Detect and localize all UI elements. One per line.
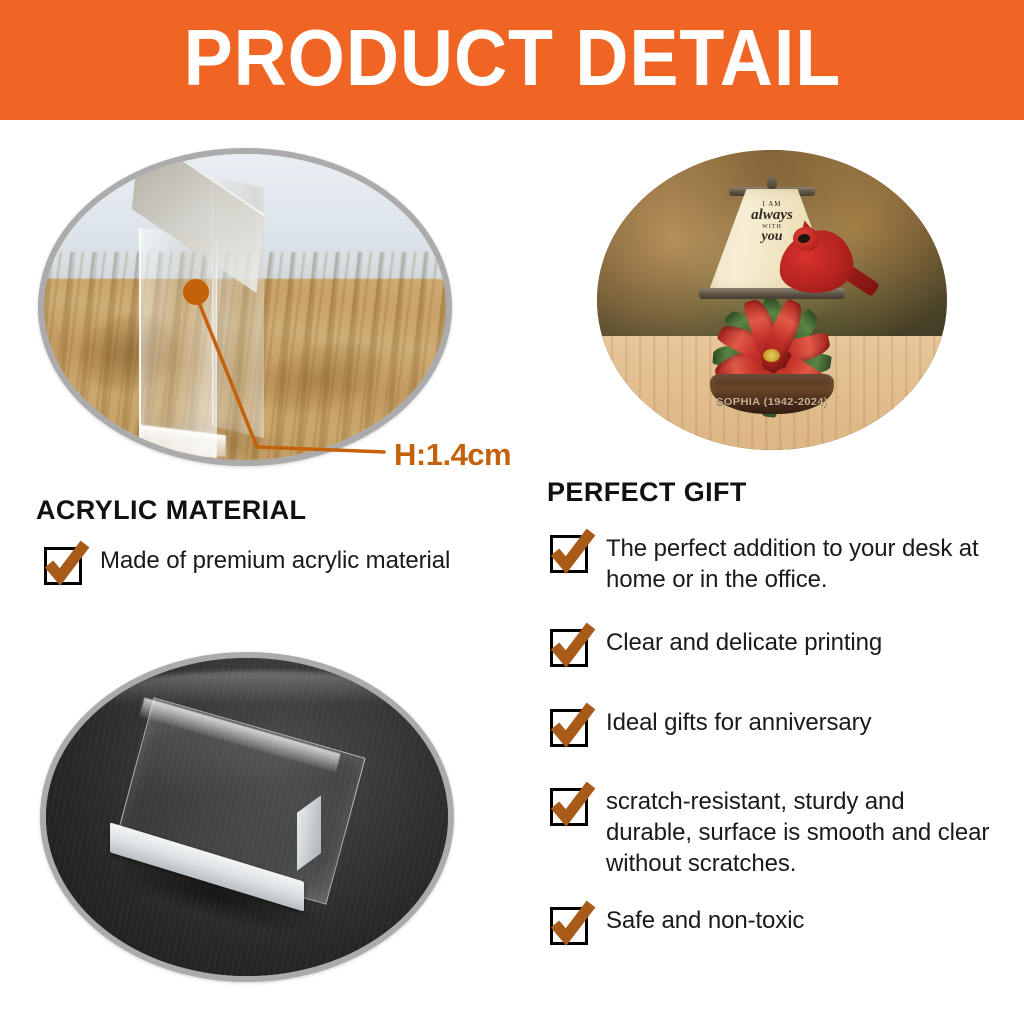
checklist-item-text: Safe and non-toxic (606, 905, 804, 936)
section-title-perfect-gift: PERFECT GIFT (547, 477, 747, 508)
checklist-item: Clear and delicate printing (550, 627, 980, 667)
checklist-item: Made of premium acrylic material (44, 545, 514, 585)
checkbox-checked-icon (550, 709, 588, 747)
shade-finial (767, 176, 777, 189)
checklist-item-text: Ideal gifts for anniversary (606, 707, 871, 738)
checkbox-checked-icon (550, 535, 588, 573)
callout-height-label: H:1.4cm (394, 437, 511, 473)
checklist-item-text: The perfect addition to your desk at hom… (606, 533, 980, 595)
checklist-item-text: scratch-resistant, sturdy and durable, s… (606, 786, 990, 879)
checklist-item: scratch-resistant, sturdy and durable, s… (550, 786, 990, 879)
checkbox-checked-icon (550, 907, 588, 945)
checkbox-checked-icon (550, 629, 588, 667)
header-banner: PRODUCT DETAIL (0, 0, 1024, 120)
photo-acrylic-slab (40, 652, 454, 982)
acrylic-block-standing (44, 154, 446, 460)
poinsettia-center (763, 349, 780, 362)
photo-cardinal-lamp: I AM always WITH you (597, 150, 947, 450)
photo-acrylic-edge (38, 148, 452, 466)
page-title: PRODUCT DETAIL (183, 18, 841, 102)
checklist-item-text: Clear and delicate printing (606, 627, 882, 658)
checklist-item: The perfect addition to your desk at hom… (550, 533, 980, 595)
block-front-face (139, 228, 217, 458)
checklist-item: Ideal gifts for anniversary (550, 707, 980, 747)
checkbox-checked-icon (550, 788, 588, 826)
checklist-item: Safe and non-toxic (550, 905, 980, 945)
base-engraving-text: SOPHIA (1942-2024) (716, 396, 828, 407)
checklist-item-text: Made of premium acrylic material (100, 545, 450, 576)
section-title-acrylic-material: ACRYLIC MATERIAL (36, 495, 306, 526)
product-detail-page: PRODUCT DETAIL I AM always WITH you (0, 0, 1024, 1024)
checkbox-checked-icon (44, 547, 82, 585)
